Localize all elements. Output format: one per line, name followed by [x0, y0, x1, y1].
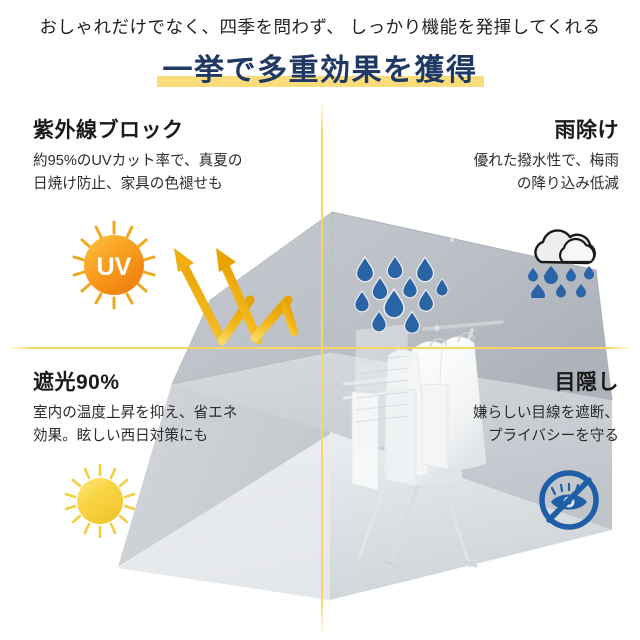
uv-icon-label: UV	[97, 253, 132, 281]
feature-uv-block: 紫外線ブロック 約95%のUVカット率で、真夏の 日焼け防止、家具の色褪せも	[33, 118, 242, 195]
feature-shade-line1: 室内の温度上昇を抑え、省エネ	[33, 402, 237, 425]
divider-vertical	[321, 100, 323, 634]
feature-privacy: 目隠し 嫌らしい目線を遮断、 プライバシーを守る	[473, 370, 619, 447]
uv-sun-icon: UV	[68, 218, 160, 315]
feature-rain-shield-heading: 雨除け	[474, 118, 619, 143]
feature-privacy-line1: 嫌らしい目線を遮断、	[473, 402, 619, 425]
divider-horizontal	[6, 347, 634, 349]
infographic-page: おしゃれだけでなく、四季を問わず、 しっかり機能を発揮してくれる 一挙で多重効果…	[0, 0, 640, 640]
feature-privacy-line2: プライバシーを守る	[473, 425, 619, 448]
feature-shade: 遮光90% 室内の温度上昇を抑え、省エネ 効果。眩しい西日対策にも	[33, 370, 237, 447]
water-droplets-icon	[346, 253, 458, 339]
feature-uv-block-line2: 日焼け防止、家具の色褪せも	[33, 173, 242, 196]
no-peeking-eye-icon	[537, 468, 601, 537]
product-scene-illustration	[0, 0, 640, 640]
feature-rain-shield-line1: 優れた撥水性で、梅雨	[474, 150, 619, 173]
feature-uv-block-heading: 紫外線ブロック	[33, 118, 242, 143]
feature-shade-line2: 効果。眩しい西日対策にも	[33, 425, 237, 448]
feature-privacy-heading: 目隠し	[473, 370, 619, 395]
feature-rain-shield-line2: の降り込み低減	[474, 173, 619, 196]
sun-icon	[62, 462, 138, 543]
rain-cloud-icon	[521, 222, 605, 303]
feature-shade-heading: 遮光90%	[33, 370, 237, 395]
feature-rain-shield: 雨除け 優れた撥水性で、梅雨 の降り込み低減	[474, 118, 619, 195]
feature-uv-block-line1: 約95%のUVカット率で、真夏の	[33, 150, 242, 173]
